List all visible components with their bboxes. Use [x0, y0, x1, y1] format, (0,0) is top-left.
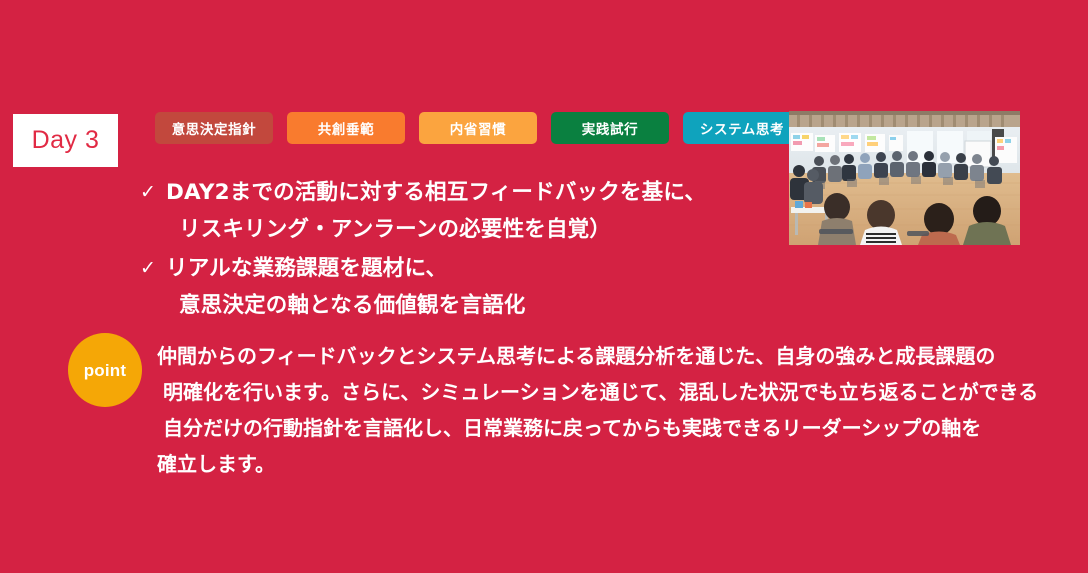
tag-chip-reflection-habit[interactable]: 内省習慣 [419, 112, 537, 144]
bullet-text: DAY2までの活動に対する相互フィードバックを基に、 リスキリング・アンラーンの… [166, 174, 780, 248]
point-line: 自分だけの行動指針を言語化し、日常業務に戻ってからも実践できるリーダーシップの軸… [157, 410, 1037, 446]
tag-chip-label: システム思考 [700, 118, 784, 138]
bullet-item: ✓ リアルな業務課題を題材に、 意思決定の軸となる価値観を言語化 [140, 250, 780, 324]
bullet-line: 意思決定の軸となる価値観を言語化 [166, 293, 526, 318]
tag-chip-label: 共創垂範 [318, 118, 374, 138]
check-icon: ✓ [140, 174, 166, 211]
bullet-line: リスキリング・アンラーンの必要性を自覚） [166, 217, 611, 242]
tag-chip-decision-policy[interactable]: 意思決定指針 [155, 112, 273, 144]
day-badge-label: Day 3 [32, 128, 100, 153]
point-badge: point [68, 333, 142, 407]
check-icon: ✓ [140, 250, 166, 287]
point-badge-label: point [84, 362, 127, 379]
bullet-item: ✓ DAY2までの活動に対する相互フィードバックを基に、 リスキリング・アンラー… [140, 174, 780, 248]
tag-chip-label: 内省習慣 [450, 118, 506, 138]
point-line: 仲間からのフィードバックとシステム思考による課題分析を通じた、自身の強みと成長課… [157, 338, 1037, 374]
point-line: 明確化を行います。さらに、シミュレーションを通じて、混乱した状況でも立ち返ること… [157, 374, 1037, 410]
day-badge: Day 3 [13, 114, 118, 167]
tag-chip-practice-trial[interactable]: 実践試行 [551, 112, 669, 144]
point-description: 仲間からのフィードバックとシステム思考による課題分析を通じた、自身の強みと成長課… [157, 338, 1037, 482]
bullet-line: リアルな業務課題を題材に、 [166, 256, 447, 281]
bullet-list: ✓ DAY2までの活動に対する相互フィードバックを基に、 リスキリング・アンラー… [140, 174, 780, 326]
tag-chip-label: 意思決定指針 [172, 118, 257, 138]
bullet-line: DAY2までの活動に対する相互フィードバックを基に、 [166, 180, 706, 205]
bullet-text: リアルな業務課題を題材に、 意思決定の軸となる価値観を言語化 [166, 250, 780, 324]
tag-chip-co-creation[interactable]: 共創垂範 [287, 112, 405, 144]
point-line: 確立します。 [157, 446, 1037, 482]
tag-chip-systems-thinking[interactable]: システム思考 [683, 112, 801, 144]
workshop-photo-image [789, 111, 1020, 245]
tag-chip-label: 実践試行 [582, 118, 638, 138]
tag-row: 意思決定指針 共創垂範 内省習慣 実践試行 システム思考 [155, 112, 801, 144]
workshop-photo [789, 111, 1020, 245]
slide-canvas: Day 3 意思決定指針 共創垂範 内省習慣 実践試行 システム思考 [0, 0, 1088, 573]
